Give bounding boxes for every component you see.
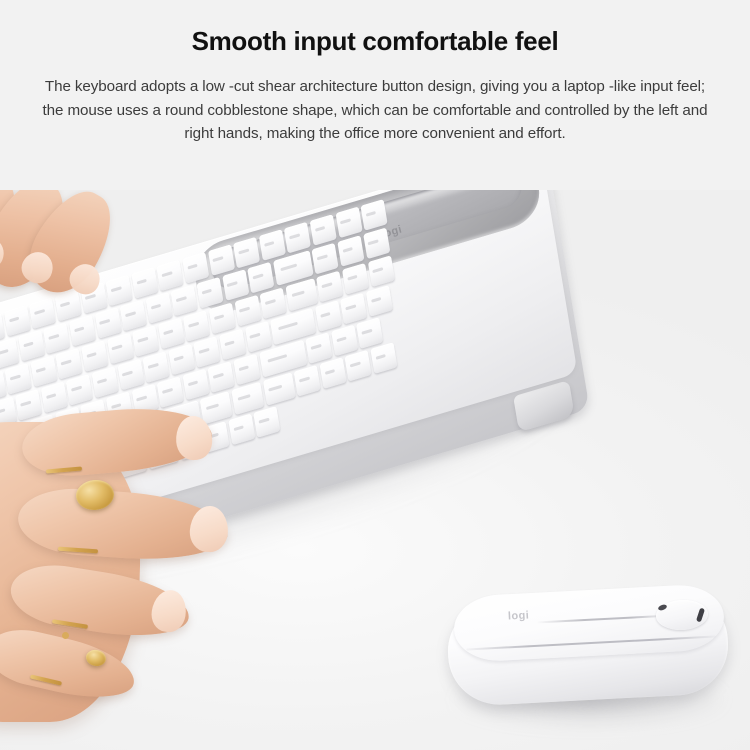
key (18, 330, 45, 362)
key (337, 235, 364, 267)
key (345, 350, 372, 382)
key (183, 310, 210, 342)
hand-lower-with-rings (0, 360, 320, 740)
key (367, 255, 394, 287)
key (342, 263, 369, 295)
key (319, 357, 346, 389)
page-title: Smooth input comfortable feel (0, 26, 750, 57)
header-text-block: Smooth input comfortable feel The keyboa… (0, 0, 750, 146)
key (259, 229, 286, 261)
key (356, 317, 383, 349)
key (312, 243, 339, 275)
hand-upper (0, 190, 230, 312)
mouse-logi-logo: logi (508, 609, 530, 622)
key (247, 262, 274, 294)
key (69, 315, 96, 347)
key (361, 199, 388, 231)
key (158, 318, 185, 350)
key (315, 300, 342, 332)
key (316, 271, 343, 303)
product-photo: logi (0, 190, 750, 750)
key (132, 325, 159, 357)
key (234, 295, 261, 327)
key (366, 285, 393, 317)
key (340, 293, 367, 325)
mouse-product: logi (440, 588, 740, 728)
key (43, 322, 70, 354)
key (219, 329, 246, 361)
fingernail (175, 415, 214, 461)
key (284, 222, 311, 254)
key (331, 325, 358, 357)
ring-gem-dot (62, 632, 69, 639)
key (245, 321, 272, 353)
key (335, 207, 362, 239)
product-marketing-image: Smooth input comfortable feel The keyboa… (0, 0, 750, 750)
key (310, 214, 337, 246)
key (260, 287, 287, 319)
key (363, 228, 390, 260)
key (233, 237, 260, 269)
description-paragraph: The keyboard adopts a low -cut shear arc… (39, 75, 711, 146)
key (370, 342, 397, 374)
